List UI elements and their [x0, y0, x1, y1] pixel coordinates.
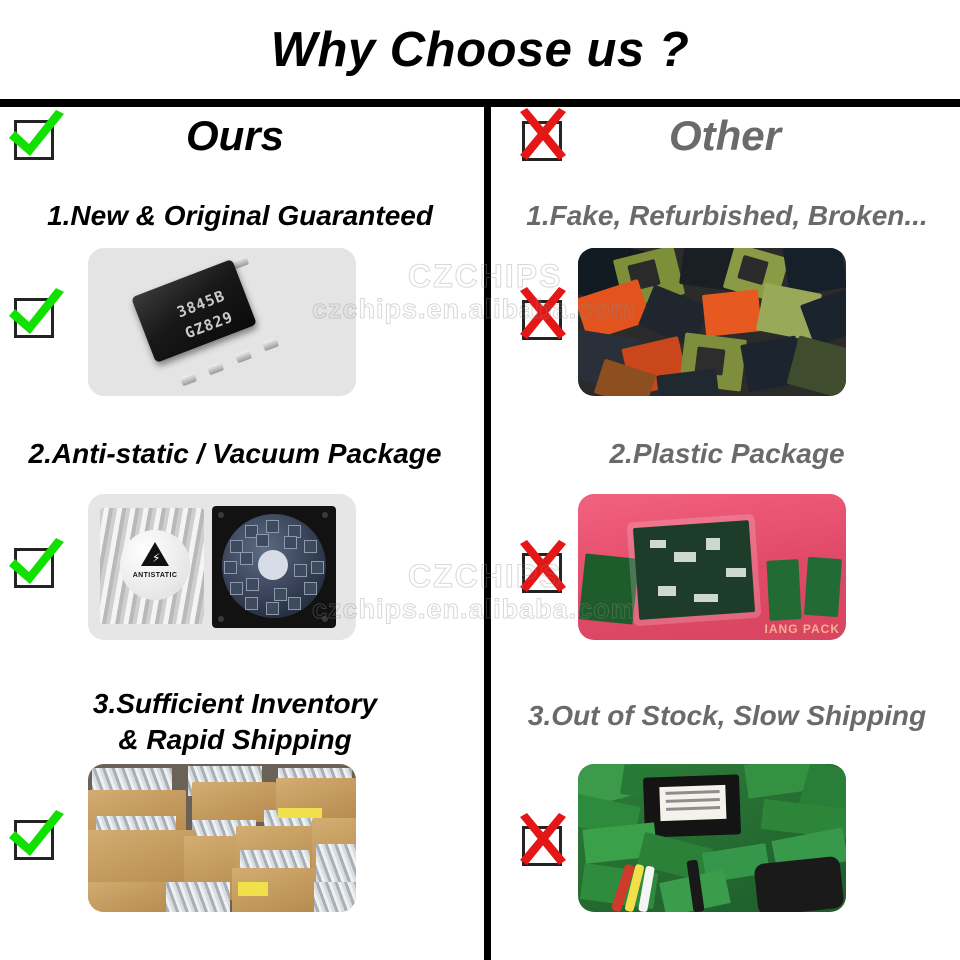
column-heading-ours: Ours — [0, 112, 470, 160]
antistatic-bag: ⚡ ANTISTATIC — [100, 508, 204, 624]
vertical-divider — [484, 103, 491, 960]
cross-icon — [510, 282, 576, 348]
pcb-scrap-pile-photo — [578, 764, 846, 912]
why-choose-us-infographic: Why Choose us ? Ours Other 1.New & Origi… — [0, 0, 960, 960]
ours-check-mark-2 — [8, 540, 60, 592]
other-cross-mark-3 — [516, 818, 568, 870]
horizontal-divider — [0, 99, 960, 107]
other-cross-mark-1 — [516, 292, 568, 344]
ours-feature-3-text-line-2: & Rapid Shipping — [0, 724, 470, 755]
pack-overlay-text: IANG PACK — [765, 622, 840, 636]
scrap-chips-photo — [578, 248, 846, 396]
other-feature-3-text: 3.Out of Stock, Slow Shipping — [494, 700, 960, 731]
cross-icon — [510, 535, 576, 601]
ours-check-mark-3 — [8, 812, 60, 864]
page-title: Why Choose us ? — [0, 22, 960, 78]
ours-feature-3-text-line-1: 3.Sufficient Inventory — [0, 688, 470, 719]
antistatic-label: ANTISTATIC — [120, 572, 190, 579]
other-feature-1-text: 1.Fake, Refurbished, Broken... — [494, 200, 960, 231]
black-module — [643, 774, 741, 837]
other-feature-2-text: 2.Plastic Package — [494, 438, 960, 469]
check-icon — [2, 530, 68, 596]
check-icon — [2, 802, 68, 868]
ours-feature-1-text: 1.New & Original Guaranteed — [10, 200, 470, 231]
cross-icon — [510, 808, 576, 874]
ic-chip-photo: 3845B GZ829 — [88, 248, 356, 396]
plastic-bag-pcb-photo: IANG PACK — [578, 494, 846, 640]
inventory-boxes-photo — [88, 764, 356, 912]
column-heading-other: Other — [490, 112, 960, 160]
other-cross-mark-2 — [516, 545, 568, 597]
component-reel — [212, 506, 336, 628]
antistatic-bag-and-reel-photo: ⚡ ANTISTATIC — [88, 494, 356, 640]
ours-check-mark-1 — [8, 290, 60, 342]
ours-feature-2-text: 2.Anti-static / Vacuum Package — [0, 438, 470, 469]
check-icon — [2, 280, 68, 346]
module-label — [659, 785, 726, 821]
